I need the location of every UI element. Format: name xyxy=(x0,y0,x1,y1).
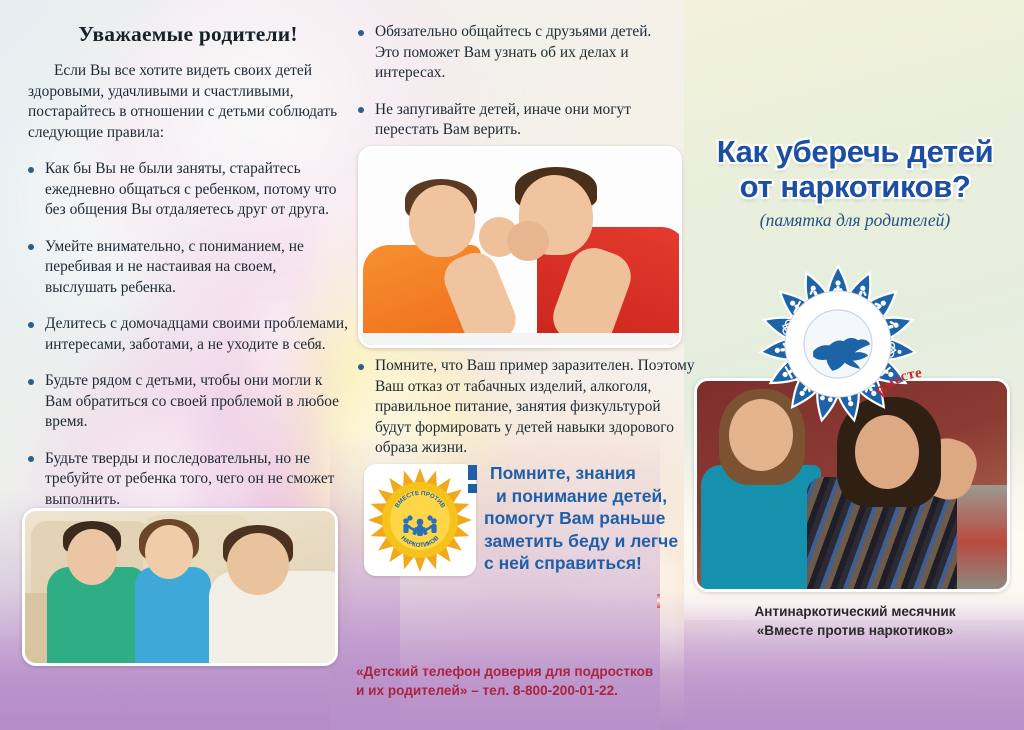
helpline-line-2: и их родителей» – тел. 8-800-200-01-22. xyxy=(356,681,686,700)
brochure-title-line-1: Как уберечь детей xyxy=(690,134,1020,169)
middle-note-paragraph: Помните, что Ваш пример заразителен. Поэ… xyxy=(358,356,697,459)
photo-arm-wrestling xyxy=(358,146,682,348)
print-speck xyxy=(657,594,660,608)
callout-block: Помните, знания и понимание детей, помог… xyxy=(484,462,684,575)
exclamation-mark-icon xyxy=(468,465,477,493)
brochure-title: Как уберечь детей от наркотиков? xyxy=(690,134,1020,204)
clasped-hands xyxy=(507,221,549,261)
sun-logo: ВМЕСТЕ ПРОТИВ НАРКОТИКОВ xyxy=(364,464,476,576)
list-item: Будьте рядом с детьми, чтобы они могли к… xyxy=(28,371,348,433)
callout-line: помогут Вам раньше xyxy=(484,507,684,530)
table-edge xyxy=(361,333,679,345)
right-panel-caption: Антинаркотический месячник «Вместе проти… xyxy=(690,602,1020,640)
middle-rules-list: Обязательно общайтесь с друзьями детей. … xyxy=(358,22,678,141)
emblem-vmeste-protiv-narkotikov: Вместе против наркотиков xyxy=(752,258,924,430)
left-rules-list: Как бы Вы не были заняты, старайтесь еже… xyxy=(28,159,348,510)
girl-head xyxy=(145,525,193,579)
callout-line: заметить беду и легче xyxy=(484,530,684,553)
callout-line: с ней справиться! xyxy=(484,552,684,575)
left-text-column: Уважаемые родители! Если Вы все хотите в… xyxy=(28,22,348,526)
page-title: Уважаемые родители! xyxy=(28,22,348,47)
man-head xyxy=(227,533,289,595)
brochure-page: Уважаемые родители! Если Вы все хотите в… xyxy=(0,0,1024,730)
helpline-text: «Детский телефон доверия для подростков … xyxy=(356,662,686,700)
brochure-title-line-2: от наркотиков? xyxy=(690,169,1020,204)
brochure-subtitle: (памятка для родителей) xyxy=(690,210,1020,231)
list-item: Не запугивайте детей, иначе они могут пе… xyxy=(358,100,678,141)
middle-text-column: Обязательно общайтесь с друзьями детей. … xyxy=(358,22,678,157)
list-item: Умейте внимательно, с пониманием, не пер… xyxy=(28,237,348,299)
girl-blue-top xyxy=(135,567,211,665)
photo-family-counselling xyxy=(22,508,338,666)
list-item: Как бы Вы не были заняты, старайтесь еже… xyxy=(28,159,348,221)
callout-line: Помните, знания xyxy=(484,462,684,485)
callout-text: Помните, знания и понимание детей, помог… xyxy=(484,462,684,575)
boy-head xyxy=(409,185,475,257)
list-item: Будьте тверды и последовательны, но не т… xyxy=(28,449,348,511)
caption-line-2: «Вместе против наркотиков» xyxy=(690,621,1020,640)
helpline-line-1: «Детский телефон доверия для подростков xyxy=(356,662,686,681)
caption-line-1: Антинаркотический месячник xyxy=(690,602,1020,621)
list-item: Делитесь с домочадцами своими проблемами… xyxy=(28,314,348,355)
intro-paragraph: Если Вы все хотите видеть своих детей зд… xyxy=(28,61,348,143)
callout-line: и понимание детей, xyxy=(484,485,684,508)
woman-head xyxy=(67,529,117,585)
list-item: Обязательно общайтесь с друзьями детей. … xyxy=(358,22,678,84)
